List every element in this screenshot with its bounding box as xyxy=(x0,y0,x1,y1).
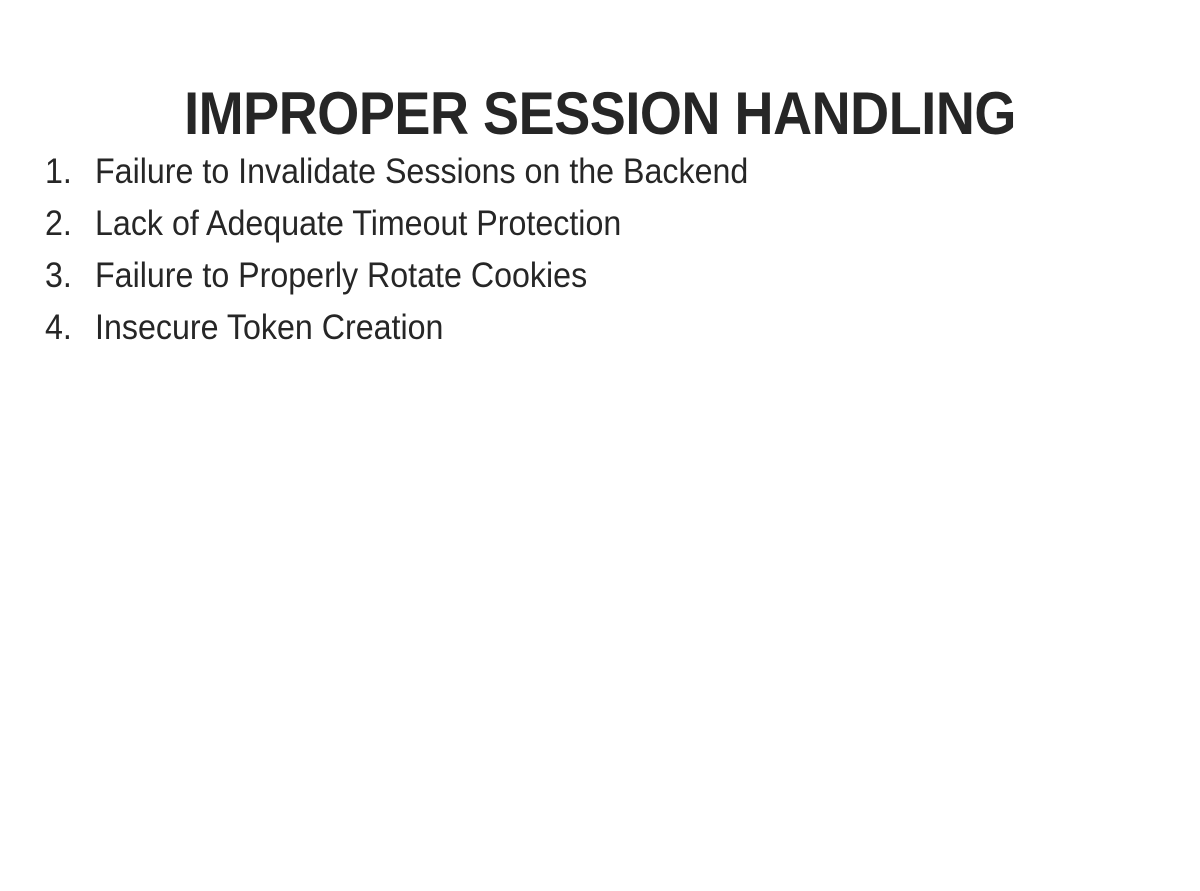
list-item: 4. Insecure Token Creation xyxy=(45,302,1155,354)
list-item-marker: 2. xyxy=(45,198,91,250)
page-title: IMPROPER SESSION HANDLING xyxy=(60,84,1140,144)
list-item-marker: 3. xyxy=(45,250,91,302)
list-item-marker: 1. xyxy=(45,146,91,198)
slide-canvas: IMPROPER SESSION HANDLING 1. Failure to … xyxy=(0,0,1200,891)
list-item-label: Insecure Token Creation xyxy=(95,302,443,354)
numbered-list: 1. Failure to Invalidate Sessions on the… xyxy=(45,146,1155,354)
list-item: 3. Failure to Properly Rotate Cookies xyxy=(45,250,1155,302)
list-item: 1. Failure to Invalidate Sessions on the… xyxy=(45,146,1155,198)
list-item: 2. Lack of Adequate Timeout Protection xyxy=(45,198,1155,250)
list-item-label: Failure to Properly Rotate Cookies xyxy=(95,250,587,302)
list-item-label: Lack of Adequate Timeout Protection xyxy=(95,198,621,250)
list-item-marker: 4. xyxy=(45,302,91,354)
list-item-label: Failure to Invalidate Sessions on the Ba… xyxy=(95,146,748,198)
